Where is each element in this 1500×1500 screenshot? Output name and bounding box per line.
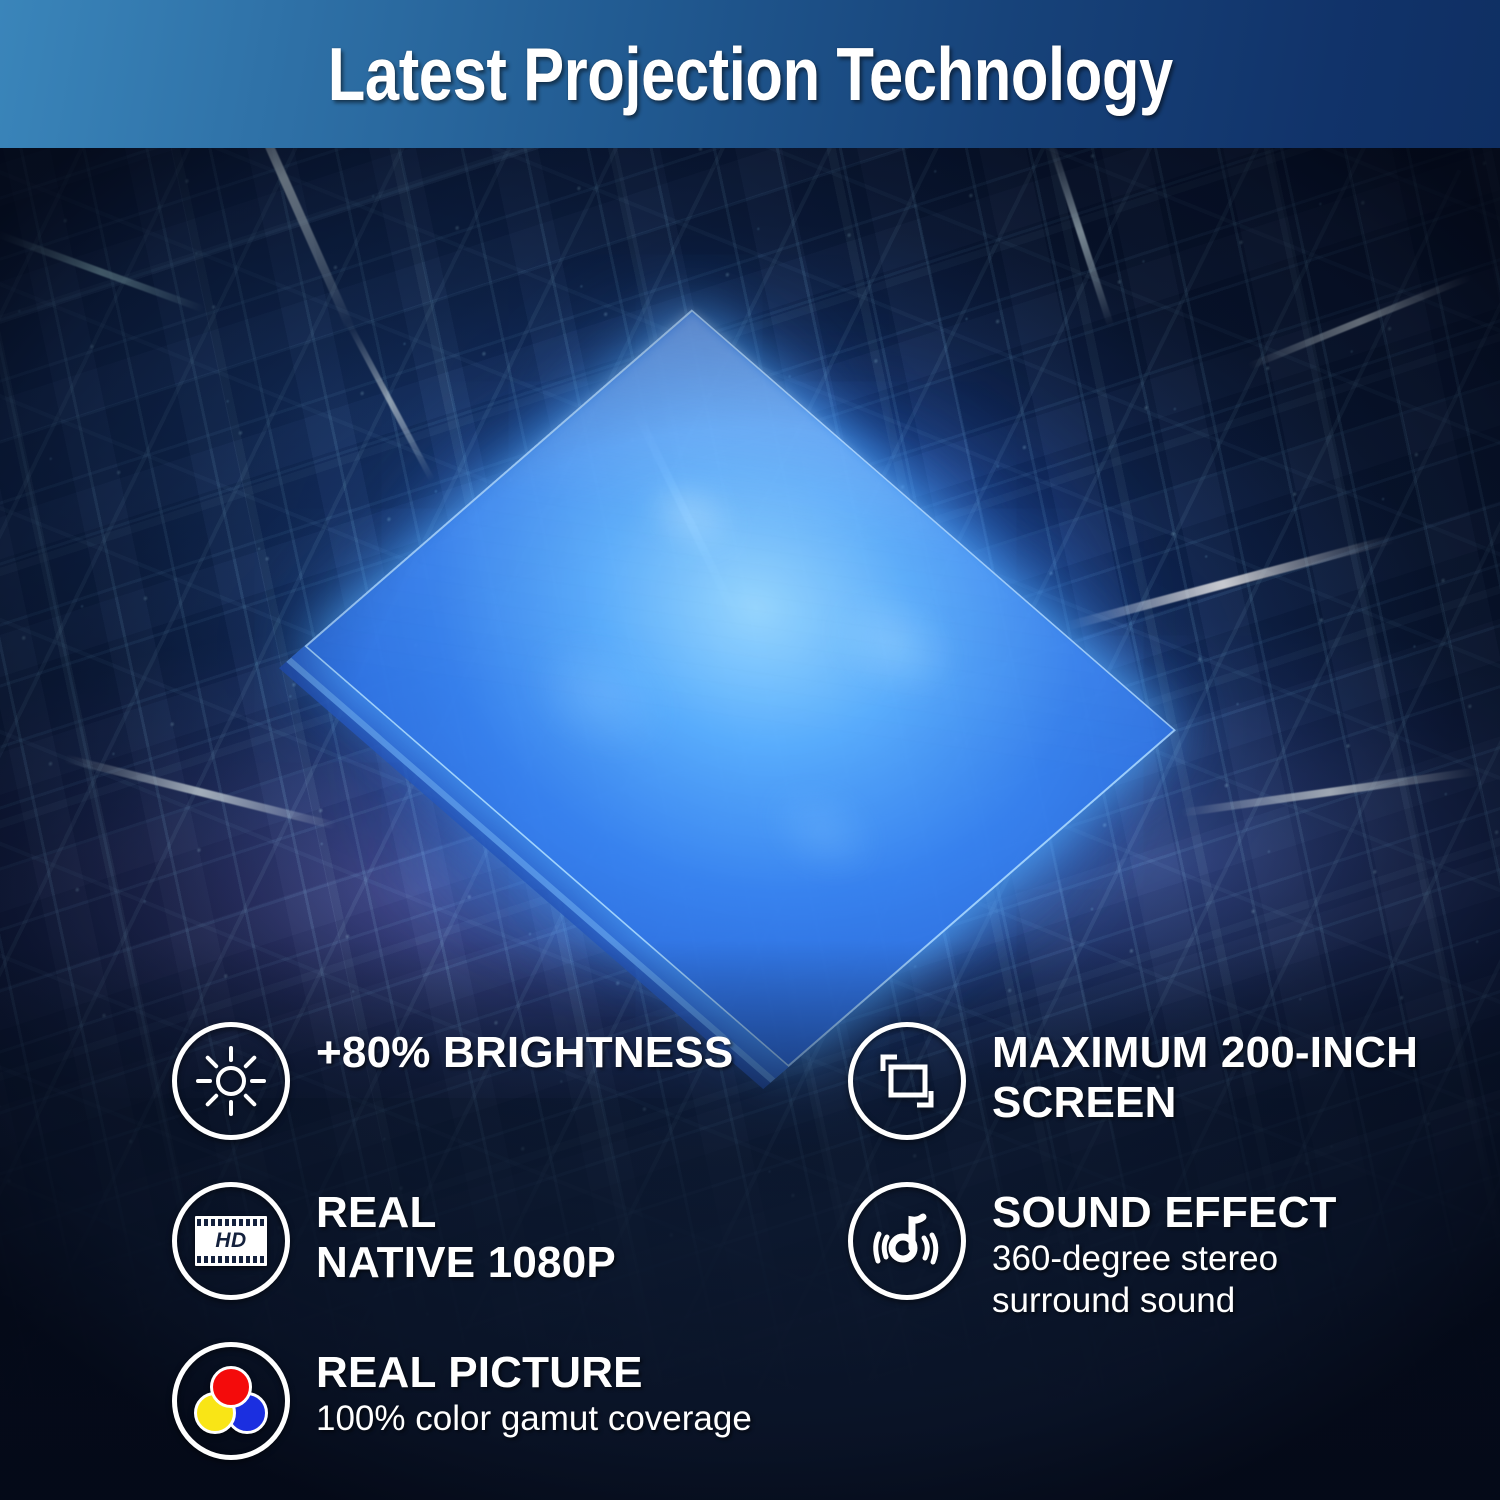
feature-sound-effect: SOUND EFFECT 360-degree stereo surround …	[848, 1182, 1337, 1322]
feature-title: +80% BRIGHTNESS	[316, 1028, 733, 1078]
sun-brightness-icon	[172, 1022, 290, 1140]
feature-title-line1: REAL	[316, 1188, 616, 1238]
header-banner: Latest Projection Technology	[0, 0, 1500, 148]
sound-wave-note-icon	[848, 1182, 966, 1300]
red-circle	[210, 1366, 252, 1408]
product-infographic: Latest Projection Technology	[0, 0, 1500, 1500]
feature-native-1080p: HD REAL NATIVE 1080P	[172, 1182, 616, 1300]
feature-text: REAL PICTURE 100% color gamut coverage	[316, 1342, 752, 1440]
feature-real-picture: REAL PICTURE 100% color gamut coverage	[172, 1342, 752, 1460]
feature-list: +80% BRIGHTNESS HD REAL NATIVE 1080P	[0, 990, 1500, 1500]
feature-max-screen: MAXIMUM 200-INCH SCREEN	[848, 1022, 1418, 1140]
feature-text: +80% BRIGHTNESS	[316, 1022, 733, 1078]
feature-text: REAL NATIVE 1080P	[316, 1182, 616, 1288]
feature-title: REAL PICTURE	[316, 1348, 752, 1398]
feature-title-line2: NATIVE 1080P	[316, 1238, 616, 1288]
rgb-color-circles-icon	[172, 1342, 290, 1460]
feature-subtitle-line2: surround sound	[992, 1280, 1337, 1322]
feature-subtitle: 100% color gamut coverage	[316, 1398, 752, 1440]
feature-title-line2: SCREEN	[992, 1078, 1418, 1128]
hd-badge-label: HD	[215, 1229, 246, 1253]
feature-brightness: +80% BRIGHTNESS	[172, 1022, 733, 1140]
feature-text: SOUND EFFECT 360-degree stereo surround …	[992, 1182, 1337, 1322]
feature-title-line1: MAXIMUM 200-INCH	[992, 1028, 1418, 1078]
screen-size-icon	[848, 1022, 966, 1140]
rgb-circles	[194, 1366, 268, 1436]
feature-subtitle-line1: 360-degree stereo	[992, 1238, 1337, 1280]
feature-text: MAXIMUM 200-INCH SCREEN	[992, 1022, 1418, 1128]
hd-film-strip-icon: HD	[172, 1182, 290, 1300]
feature-title: SOUND EFFECT	[992, 1188, 1337, 1238]
page-title: Latest Projection Technology	[327, 31, 1172, 117]
film-strip: HD	[195, 1216, 267, 1266]
